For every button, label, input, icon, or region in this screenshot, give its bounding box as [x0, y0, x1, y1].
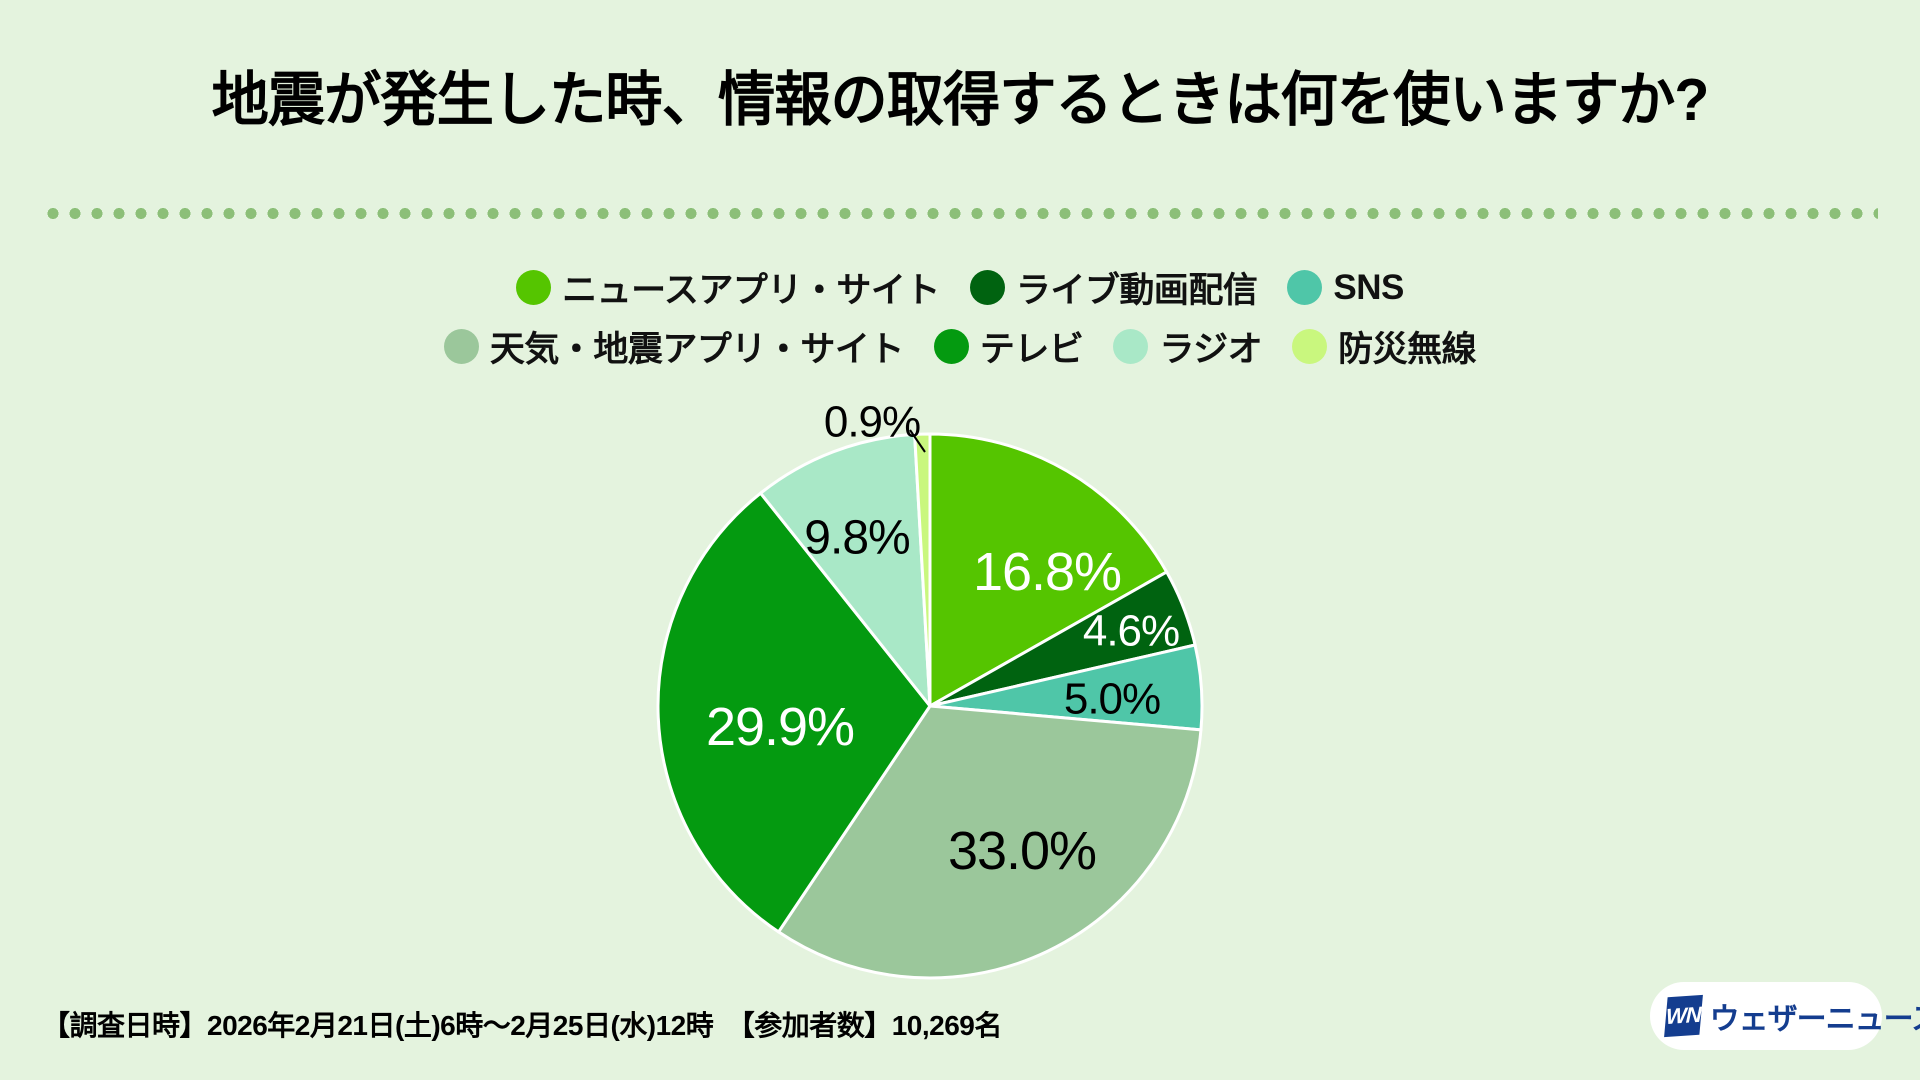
legend-label: テレビ — [980, 321, 1084, 372]
legend-item[interactable]: テレビ — [934, 321, 1084, 372]
legend-color-swatch-icon — [1292, 329, 1327, 364]
legend-color-swatch-icon — [516, 270, 551, 305]
legend-color-swatch-icon — [970, 270, 1005, 305]
legend-color-swatch-icon — [444, 329, 479, 364]
survey-note: 【調査日時】2026年2月21日(土)6時〜2月25日(水)12時 【参加者数】… — [42, 1004, 1002, 1044]
pie-slice-label: 16.8% — [973, 542, 1121, 602]
pie-chart-svg: 16.8%4.6%5.0%33.0%29.9%9.8%0.9% — [0, 0, 1920, 1080]
legend-color-swatch-icon — [934, 329, 969, 364]
pie-slice-label: 9.8% — [804, 512, 909, 565]
pie-chart: 16.8%4.6%5.0%33.0%29.9%9.8%0.9% — [0, 0, 1920, 1080]
legend-label: ラジオ — [1159, 321, 1262, 372]
wn-logo-text: WN — [1666, 1002, 1701, 1030]
pie-slice-label: 29.9% — [706, 697, 854, 757]
dotted-divider — [42, 208, 1878, 219]
pie-slice[interactable] — [658, 493, 930, 932]
pie-slice-label: 0.9% — [824, 398, 920, 447]
legend-item[interactable]: 防災無線 — [1292, 321, 1476, 372]
legend-color-swatch-icon — [1113, 329, 1148, 364]
legend-item[interactable]: SNS — [1287, 268, 1403, 308]
page-title: 地震が発生した時、情報の取得するときは何を使いますか? — [29, 52, 1891, 137]
legend-label: ライブ動画配信 — [1016, 262, 1258, 313]
weathernews-logo[interactable]: WN ウェザーニュース — [1650, 982, 1882, 1050]
leader-line — [910, 430, 925, 452]
pie-slice-label: 5.0% — [1064, 675, 1160, 724]
pie-slice[interactable] — [761, 434, 930, 706]
brand-name: ウェザーニュース — [1710, 994, 1920, 1038]
legend-label: ニュースアプリ・サイト — [562, 262, 940, 313]
legend-item[interactable]: ニュースアプリ・サイト — [516, 262, 940, 313]
legend-row: 天気・地震アプリ・サイトテレビラジオ防災無線 — [0, 321, 1920, 372]
legend-row: ニュースアプリ・サイトライブ動画配信SNS — [0, 262, 1920, 313]
pie-slice[interactable] — [930, 434, 1167, 706]
legend-label: SNS — [1333, 268, 1403, 308]
legend-color-swatch-icon — [1287, 270, 1322, 305]
pie-slice[interactable] — [930, 572, 1195, 706]
legend-label: 天気・地震アプリ・サイト — [490, 321, 904, 372]
legend-item[interactable]: ライブ動画配信 — [970, 262, 1258, 313]
pie-slice-label: 33.0% — [948, 821, 1096, 881]
pie-slice[interactable] — [930, 645, 1202, 730]
legend-item[interactable]: ラジオ — [1113, 321, 1262, 372]
pie-slice[interactable] — [779, 706, 1201, 978]
pie-slice[interactable] — [915, 434, 930, 706]
wn-logo-icon: WN — [1664, 995, 1702, 1037]
chart-legend: ニュースアプリ・サイトライブ動画配信SNS天気・地震アプリ・サイトテレビラジオ防… — [0, 262, 1920, 380]
legend-item[interactable]: 天気・地震アプリ・サイト — [444, 321, 904, 372]
pie-slice-label: 4.6% — [1083, 607, 1179, 656]
legend-label: 防災無線 — [1338, 321, 1476, 372]
